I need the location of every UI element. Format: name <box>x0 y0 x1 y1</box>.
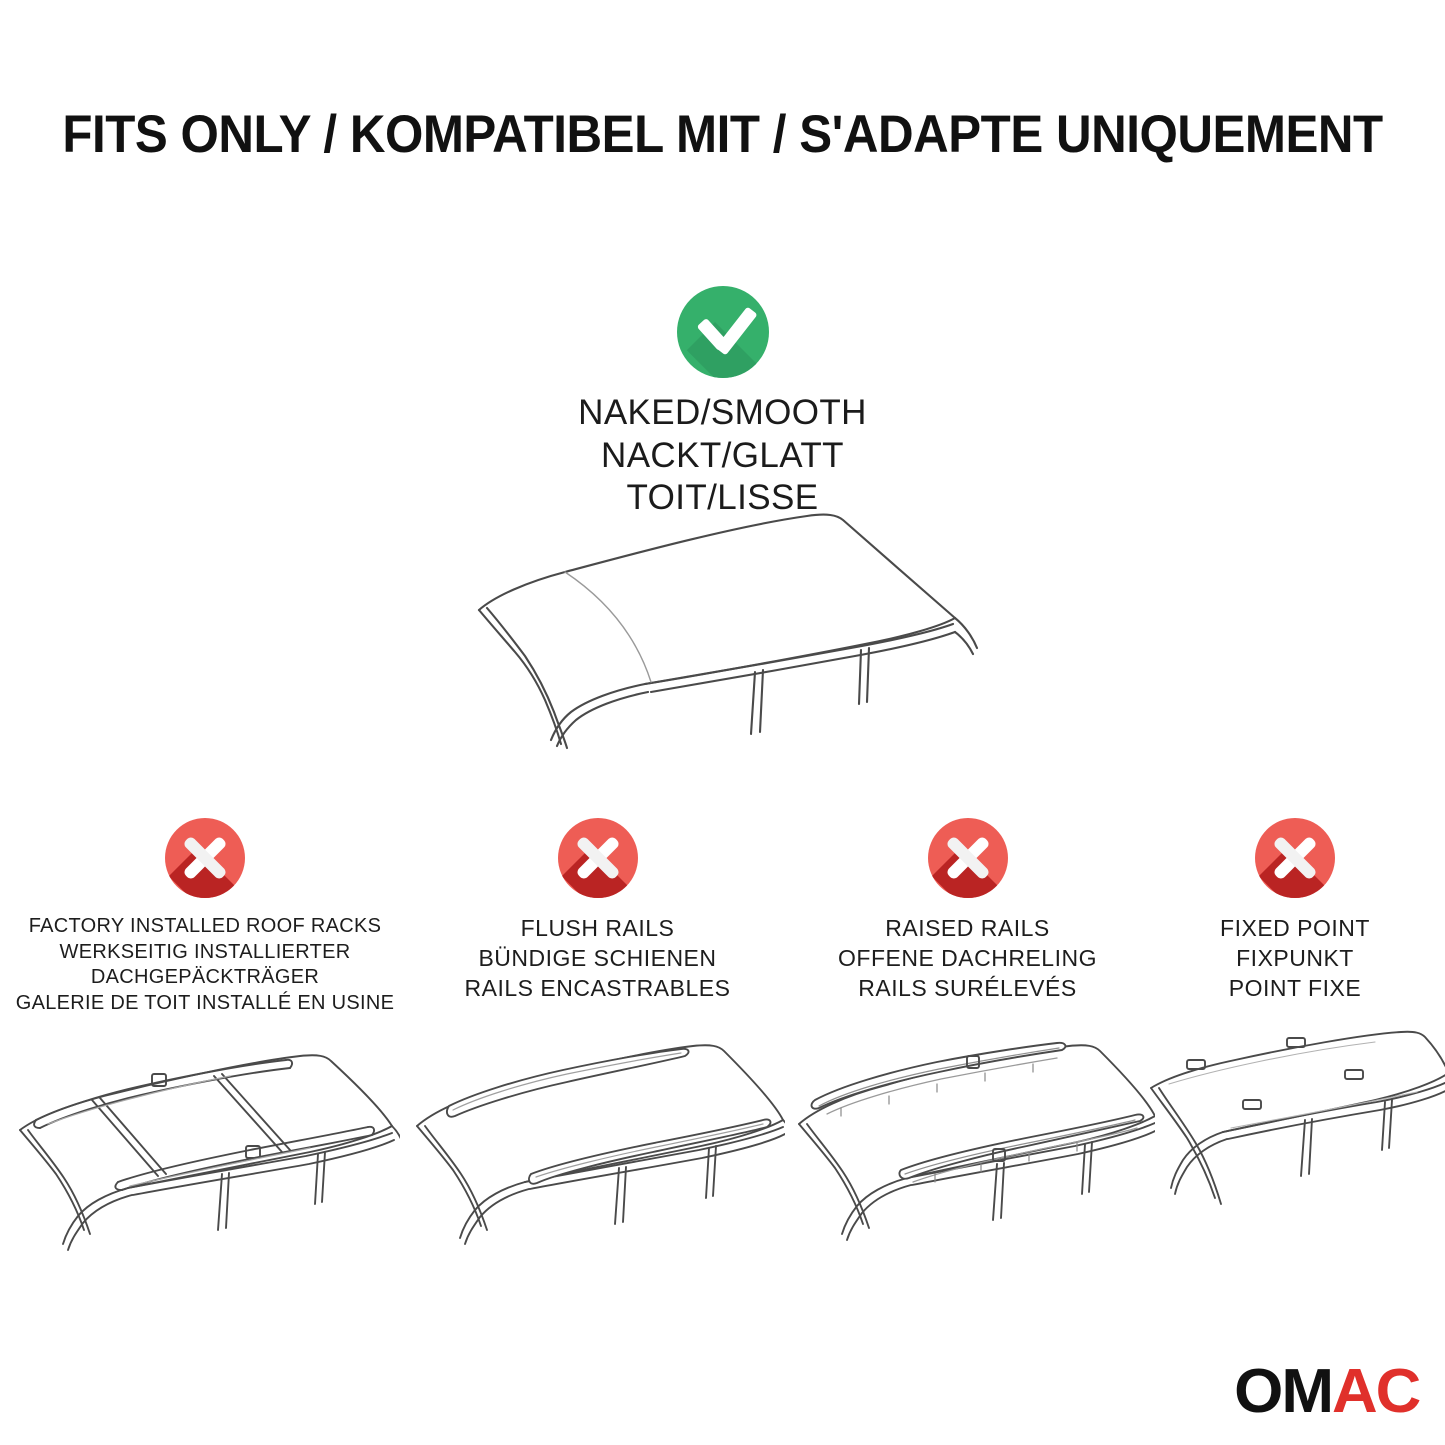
compatible-line-en: NAKED/SMOOTH <box>0 392 1445 435</box>
incompatible-row: FACTORY INSTALLED ROOF RACKS WERKSEITIG … <box>0 818 1445 1258</box>
x-icon-wrap-1 <box>405 818 790 914</box>
item-0-line-1: WERKSEITIG INSTALLIERTER <box>4 940 406 966</box>
x-icon-wrap-3 <box>1145 818 1445 914</box>
car-roof-flush-rails-illustration <box>405 1022 790 1252</box>
car-roof-naked-smooth-illustration <box>455 486 995 756</box>
red-x-icon <box>558 818 638 898</box>
item-1-line-1: BÜNDIGE SCHIENEN <box>409 944 786 974</box>
logo-text-accent: AC <box>1332 1357 1419 1426</box>
incompatible-item-flush-rails: FLUSH RAILS BÜNDIGE SCHIENEN RAILS ENCAS… <box>405 818 790 1252</box>
red-x-icon <box>1255 818 1335 898</box>
x-glyph <box>1255 818 1335 898</box>
car-roof-factory-rack-illustration <box>0 1034 410 1264</box>
omac-logo: OMAC <box>1234 1361 1419 1423</box>
item-0-line-0: FACTORY INSTALLED ROOF RACKS <box>4 914 406 940</box>
x-icon-wrap-0 <box>0 818 410 914</box>
item-label-3: FIXED POINT FIXPUNKT POINT FIXE <box>1145 914 1445 1004</box>
compatible-line-de: NACKT/GLATT <box>0 435 1445 478</box>
item-label-0: FACTORY INSTALLED ROOF RACKS WERKSEITIG … <box>0 914 410 1016</box>
item-0-line-2: DACHGEPÄCKTRÄGER <box>4 965 406 991</box>
item-3-line-1: FIXPUNKT <box>1149 944 1441 974</box>
incompatible-item-fixed-point: FIXED POINT FIXPUNKT POINT FIXE <box>1145 818 1445 1252</box>
logo-text-dark: OM <box>1234 1357 1332 1426</box>
compatible-block: NAKED/SMOOTH NACKT/GLATT TOIT/LISSE <box>0 286 1445 520</box>
car-roof-fixed-point-illustration <box>1145 1022 1445 1252</box>
red-x-icon <box>928 818 1008 898</box>
car-roof-raised-rails-illustration <box>785 1022 1150 1252</box>
item-3-line-2: POINT FIXE <box>1149 974 1441 1004</box>
x-icon-wrap-2 <box>785 818 1150 914</box>
green-check-icon <box>677 286 769 378</box>
item-3-line-0: FIXED POINT <box>1149 914 1441 944</box>
item-label-2: RAISED RAILS OFFENE DACHRELING RAILS SUR… <box>785 914 1150 1004</box>
incompatible-item-raised-rails: RAISED RAILS OFFENE DACHRELING RAILS SUR… <box>785 818 1150 1252</box>
incompatible-item-factory-installed-roof-racks: FACTORY INSTALLED ROOF RACKS WERKSEITIG … <box>0 818 410 1264</box>
check-glyph <box>699 306 749 334</box>
item-label-1: FLUSH RAILS BÜNDIGE SCHIENEN RAILS ENCAS… <box>405 914 790 1004</box>
item-2-line-1: OFFENE DACHRELING <box>789 944 1146 974</box>
page-title: FITS ONLY / KOMPATIBEL MIT / S'ADAPTE UN… <box>51 104 1395 165</box>
x-glyph <box>165 818 245 898</box>
item-2-line-2: RAILS SURÉLEVÉS <box>789 974 1146 1004</box>
item-2-line-0: RAISED RAILS <box>789 914 1146 944</box>
x-glyph <box>928 818 1008 898</box>
item-0-line-3: GALERIE DE TOIT INSTALLÉ EN USINE <box>4 991 406 1017</box>
red-x-icon <box>165 818 245 898</box>
x-glyph <box>558 818 638 898</box>
compatibility-infographic: FITS ONLY / KOMPATIBEL MIT / S'ADAPTE UN… <box>0 0 1445 1445</box>
item-1-line-2: RAILS ENCASTRABLES <box>409 974 786 1004</box>
item-1-line-0: FLUSH RAILS <box>409 914 786 944</box>
